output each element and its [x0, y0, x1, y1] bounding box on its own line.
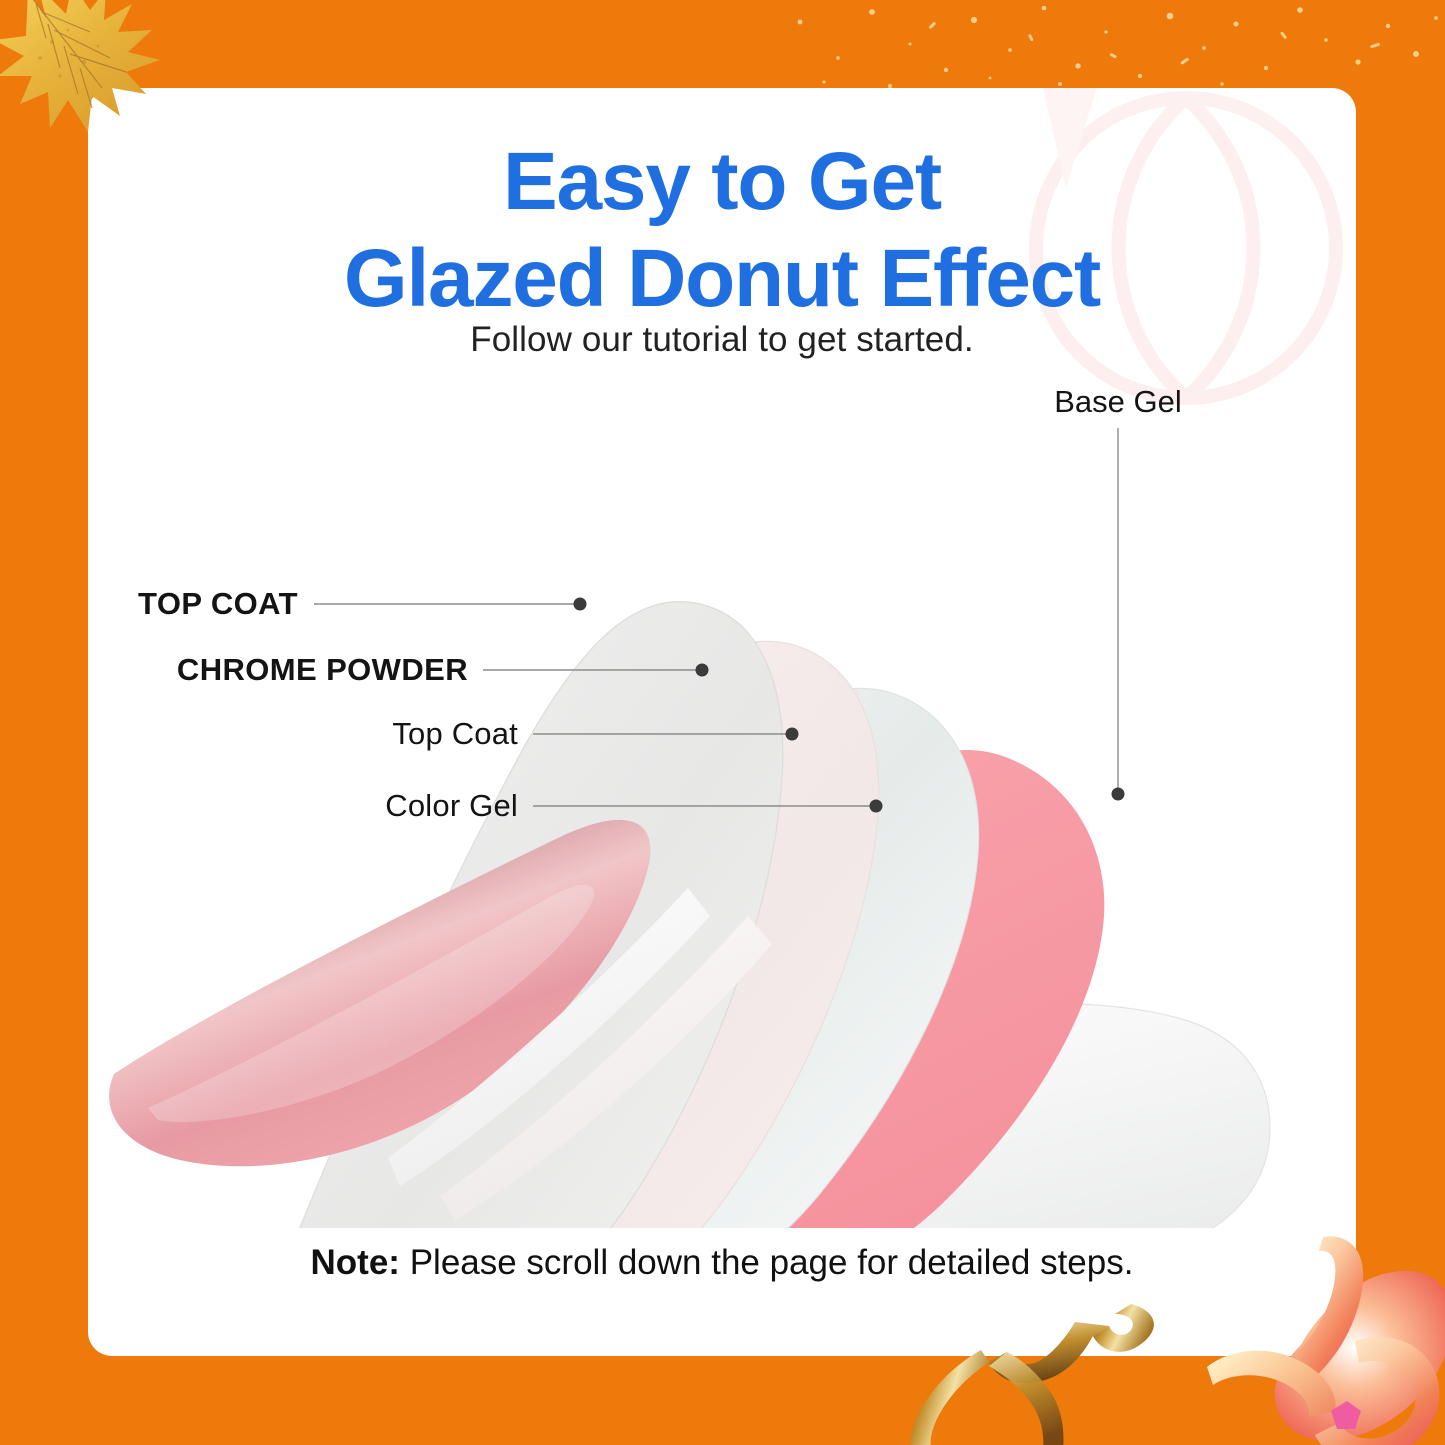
page-title: Easy to Get Glazed Donut Effect [88, 134, 1356, 328]
label-base-gel: Base Gel [1030, 384, 1206, 420]
footer-note: Note: Please scroll down the page for de… [88, 1243, 1356, 1283]
title-line-1: Easy to Get [88, 134, 1356, 231]
footer-note-label: Note: [311, 1243, 400, 1282]
infographic-page: Easy to Get Glazed Donut Effect Follow o… [0, 0, 1445, 1445]
title-line-2: Glazed Donut Effect [88, 231, 1356, 328]
leader-dot-top-coat-inner [786, 728, 799, 741]
label-chrome-powder: CHROME POWDER [177, 652, 468, 688]
leader-dot-color-gel [870, 800, 883, 813]
content-card: Easy to Get Glazed Donut Effect Follow o… [88, 88, 1356, 1356]
footer-note-text: Please scroll down the page for detailed… [400, 1243, 1134, 1282]
nail-layer-diagram [88, 368, 1356, 1228]
label-color-gel: Color Gel [385, 788, 518, 824]
label-top-coat-outer: TOP COAT [138, 586, 298, 622]
leader-dot-chrome-powder [696, 664, 709, 677]
label-top-coat-inner: Top Coat [392, 716, 518, 752]
leader-dot-top-coat-outer [574, 598, 587, 611]
leader-dot-base-gel [1112, 788, 1125, 801]
page-subtitle: Follow our tutorial to get started. [88, 320, 1356, 360]
